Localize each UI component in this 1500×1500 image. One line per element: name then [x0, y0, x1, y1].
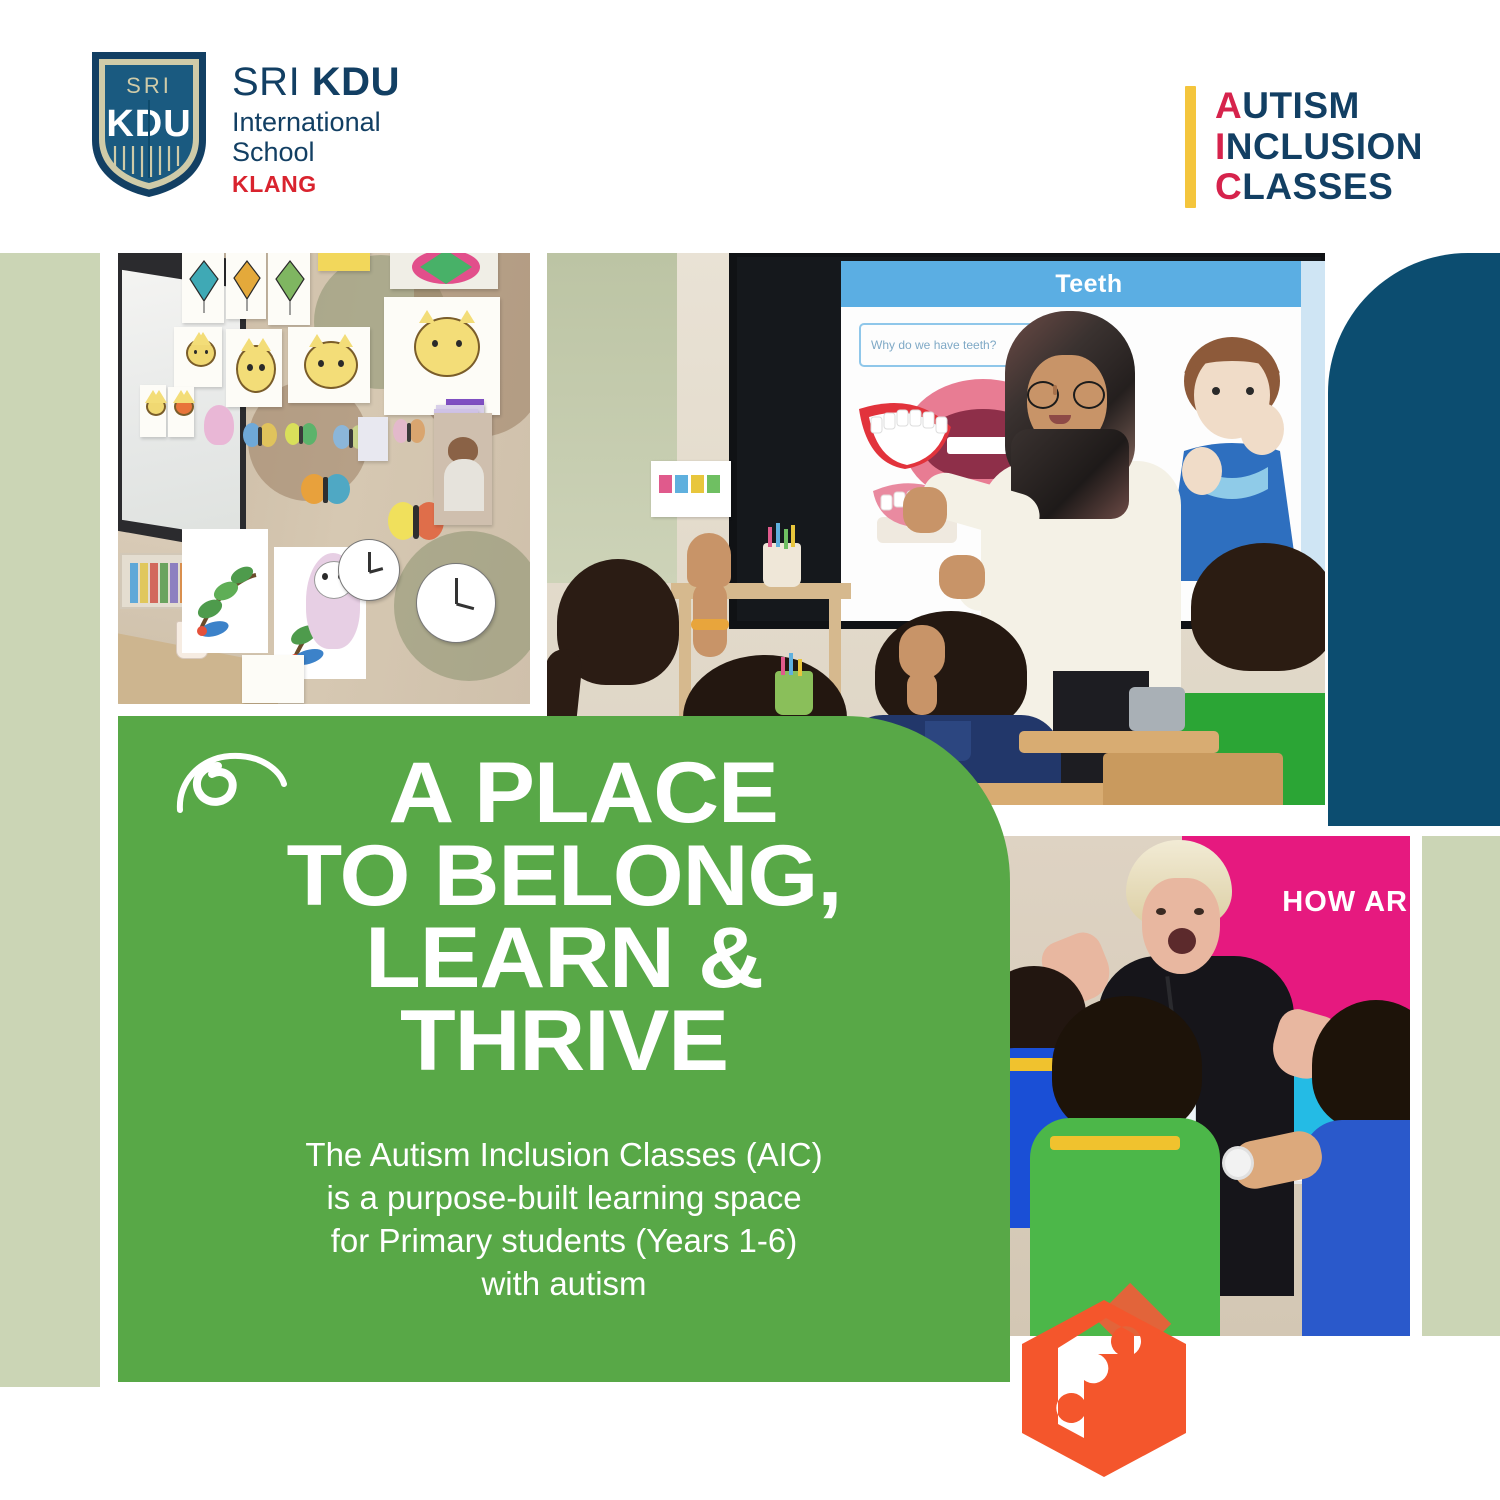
logo-campus-klang: KLANG [232, 173, 400, 196]
logo-wordmark: SRI KDU International School KLANG [232, 48, 400, 196]
logo-school: School [232, 137, 400, 167]
photo-art-wall [118, 253, 530, 704]
sri-kdu-logo: SRI KDU SRI KDU Inte [88, 48, 400, 200]
headline-line-2: TO BELONG, [91, 835, 1037, 918]
shield-icon: SRI KDU [88, 48, 210, 200]
sage-band-left [0, 253, 100, 1387]
header-bar: SRI KDU SRI KDU Inte [0, 0, 1500, 253]
autism-puzzle-hexagon-icon [1014, 1296, 1194, 1481]
screen-text: HOW AR [1282, 886, 1408, 919]
page-title: A PLACE TO BELONG, LEARN & THRIVE [91, 752, 1037, 1082]
logo-name-kdu: KDU [312, 60, 400, 104]
hero-message-panel: A PLACE TO BELONG, LEARN & THRIVE The Au… [118, 716, 1010, 1382]
aic-autism: UTISM [1242, 85, 1360, 126]
svg-text:SRI: SRI [126, 73, 172, 98]
aic-programme-logo: AUTISM INCLUSION CLASSES [1185, 86, 1423, 208]
sage-band-right [1422, 836, 1500, 1336]
aic-a: A [1215, 85, 1242, 126]
body-line-3: for Primary students (Years 1-6) [158, 1220, 970, 1263]
headline-line-1: A PLACE [91, 752, 1037, 835]
logo-name-sri: SRI [232, 60, 312, 104]
logo-international: International [232, 107, 400, 137]
aic-yellow-bar [1185, 86, 1196, 208]
photo-circle-time: HOW AR [986, 836, 1410, 1336]
headline-line-3: LEARN & [91, 917, 1037, 1000]
student-green-shirt [1030, 996, 1220, 1336]
body-line-1: The Autism Inclusion Classes (AIC) [158, 1134, 970, 1177]
body-line-2: is a purpose-built learning space [158, 1177, 970, 1220]
aic-c: C [1215, 166, 1242, 207]
headline-line-4: THRIVE [91, 1000, 1037, 1083]
navy-block-right [1328, 253, 1500, 826]
aic-classes: LASSES [1242, 166, 1393, 207]
aic-inclusion: NCLUSION [1226, 126, 1423, 167]
poster-canvas: SRI KDU SRI KDU Inte [0, 0, 1500, 1500]
slide-title: Teeth [1055, 270, 1122, 299]
hero-description: The Autism Inclusion Classes (AIC) is a … [158, 1134, 970, 1306]
aic-i: I [1215, 126, 1226, 167]
body-line-4: with autism [158, 1263, 970, 1306]
